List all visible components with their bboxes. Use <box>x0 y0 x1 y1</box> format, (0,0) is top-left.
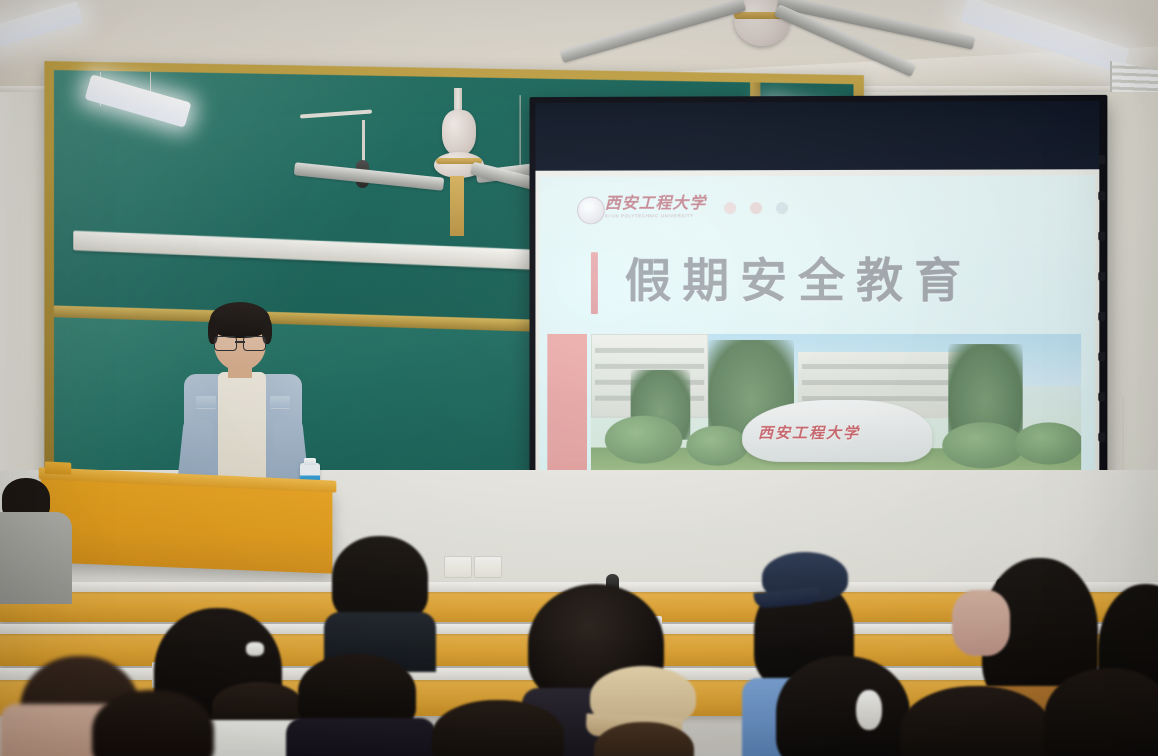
presenter-hair <box>210 302 270 338</box>
logo-name-cn: 西安工程大学 <box>605 194 706 212</box>
photo-shrub-2 <box>686 426 748 466</box>
slide-title-accent-bar <box>591 252 598 314</box>
lecture-podium <box>41 475 333 573</box>
wall-switch-plate-1 <box>444 556 472 578</box>
audience-person-6 <box>900 686 1050 756</box>
audience-person-7 <box>1044 668 1158 756</box>
jacket-pocket-left <box>196 396 216 408</box>
wall-switch-plate-2 <box>474 556 502 578</box>
audience-person-8 <box>432 700 562 756</box>
audience-person-beige-cap <box>586 666 702 756</box>
hair-clip-icon <box>856 690 882 730</box>
glasses-icon <box>214 336 266 349</box>
monument-inscription: 西安工程大学 <box>758 422 922 443</box>
dot-2-icon <box>750 202 762 214</box>
standing-presenter <box>178 300 306 500</box>
microphone-rod <box>362 120 365 162</box>
screen-tension-tabs <box>1097 155 1105 519</box>
hair-clip-icon <box>246 642 264 656</box>
ceiling-fan-top <box>700 0 960 92</box>
presenter-shirt <box>218 372 266 484</box>
hair <box>776 656 910 756</box>
university-seal-icon <box>577 196 605 224</box>
hair <box>92 690 214 756</box>
jacket-pocket-right <box>270 396 290 408</box>
fan-gold-column <box>450 176 464 236</box>
slide-title: 假期安全教育 <box>625 244 1075 320</box>
shoulder <box>952 590 1010 656</box>
fan-motor-housing <box>442 110 476 156</box>
hair <box>332 536 428 622</box>
hair <box>900 686 1052 756</box>
photo-shrub-4 <box>1015 422 1082 464</box>
audience-person-clip <box>772 656 912 756</box>
slide-photo-side-bar <box>547 334 587 473</box>
audience-person-grey-sweater <box>0 478 72 598</box>
dot-1-icon <box>724 202 736 214</box>
water-bottle-cap <box>304 458 316 465</box>
slide-decoration-dots <box>724 202 794 216</box>
hair <box>1044 668 1158 756</box>
screen-cord-left <box>520 95 521 165</box>
photo-shrub-1 <box>605 416 683 464</box>
audience-person-4 <box>92 690 212 756</box>
torso-grey-sweater <box>0 512 72 604</box>
hair <box>432 700 564 756</box>
classroom-photo-scene: 西安工程大学 XI'AN POLYTECHNIC UNIVERSITY 假期安全… <box>0 0 1158 756</box>
podium-corner-notch <box>45 461 71 474</box>
screen-dark-top-band <box>535 101 1099 177</box>
logo-name-en: XI'AN POLYTECHNIC UNIVERSITY <box>605 213 694 219</box>
projected-slide: 西安工程大学 XI'AN POLYTECHNIC UNIVERSITY 假期安全… <box>539 175 1095 489</box>
photo-shrub-3 <box>942 422 1024 468</box>
torso-dark <box>286 718 436 756</box>
slide-campus-photo: 西安工程大学 <box>591 334 1081 475</box>
slide-logo: 西安工程大学 XI'AN POLYTECHNIC UNIVERSITY <box>577 194 776 228</box>
photo-stone-monument: 西安工程大学 <box>742 400 932 462</box>
audience-person-1 <box>324 536 434 656</box>
audience-person-9 <box>952 590 1012 660</box>
dot-3-icon <box>776 202 788 214</box>
audience-person-5 <box>290 654 430 756</box>
